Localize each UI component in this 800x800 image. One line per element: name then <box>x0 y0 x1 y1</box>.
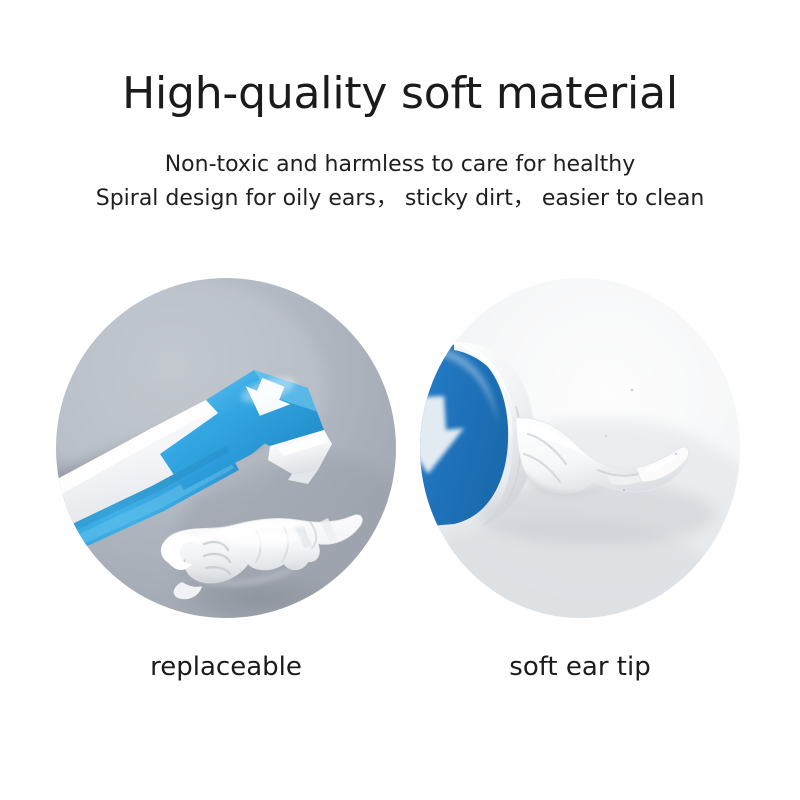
subtitle-line-1: Non-toxic and harmless to care for healt… <box>0 150 800 180</box>
caption-replaceable: replaceable <box>56 650 396 684</box>
product-photo-soft-ear-tip <box>420 278 740 618</box>
product-photo-replaceable <box>56 278 396 618</box>
replaceable-photo-artwork <box>56 278 396 618</box>
caption-soft-ear-tip: soft ear tip <box>420 650 740 684</box>
soft-ear-tip-photo-artwork <box>420 278 740 618</box>
subtitle-line-2: Spiral design for oily ears， sticky dirt… <box>0 184 800 214</box>
page-title: High-quality soft material <box>0 68 800 120</box>
